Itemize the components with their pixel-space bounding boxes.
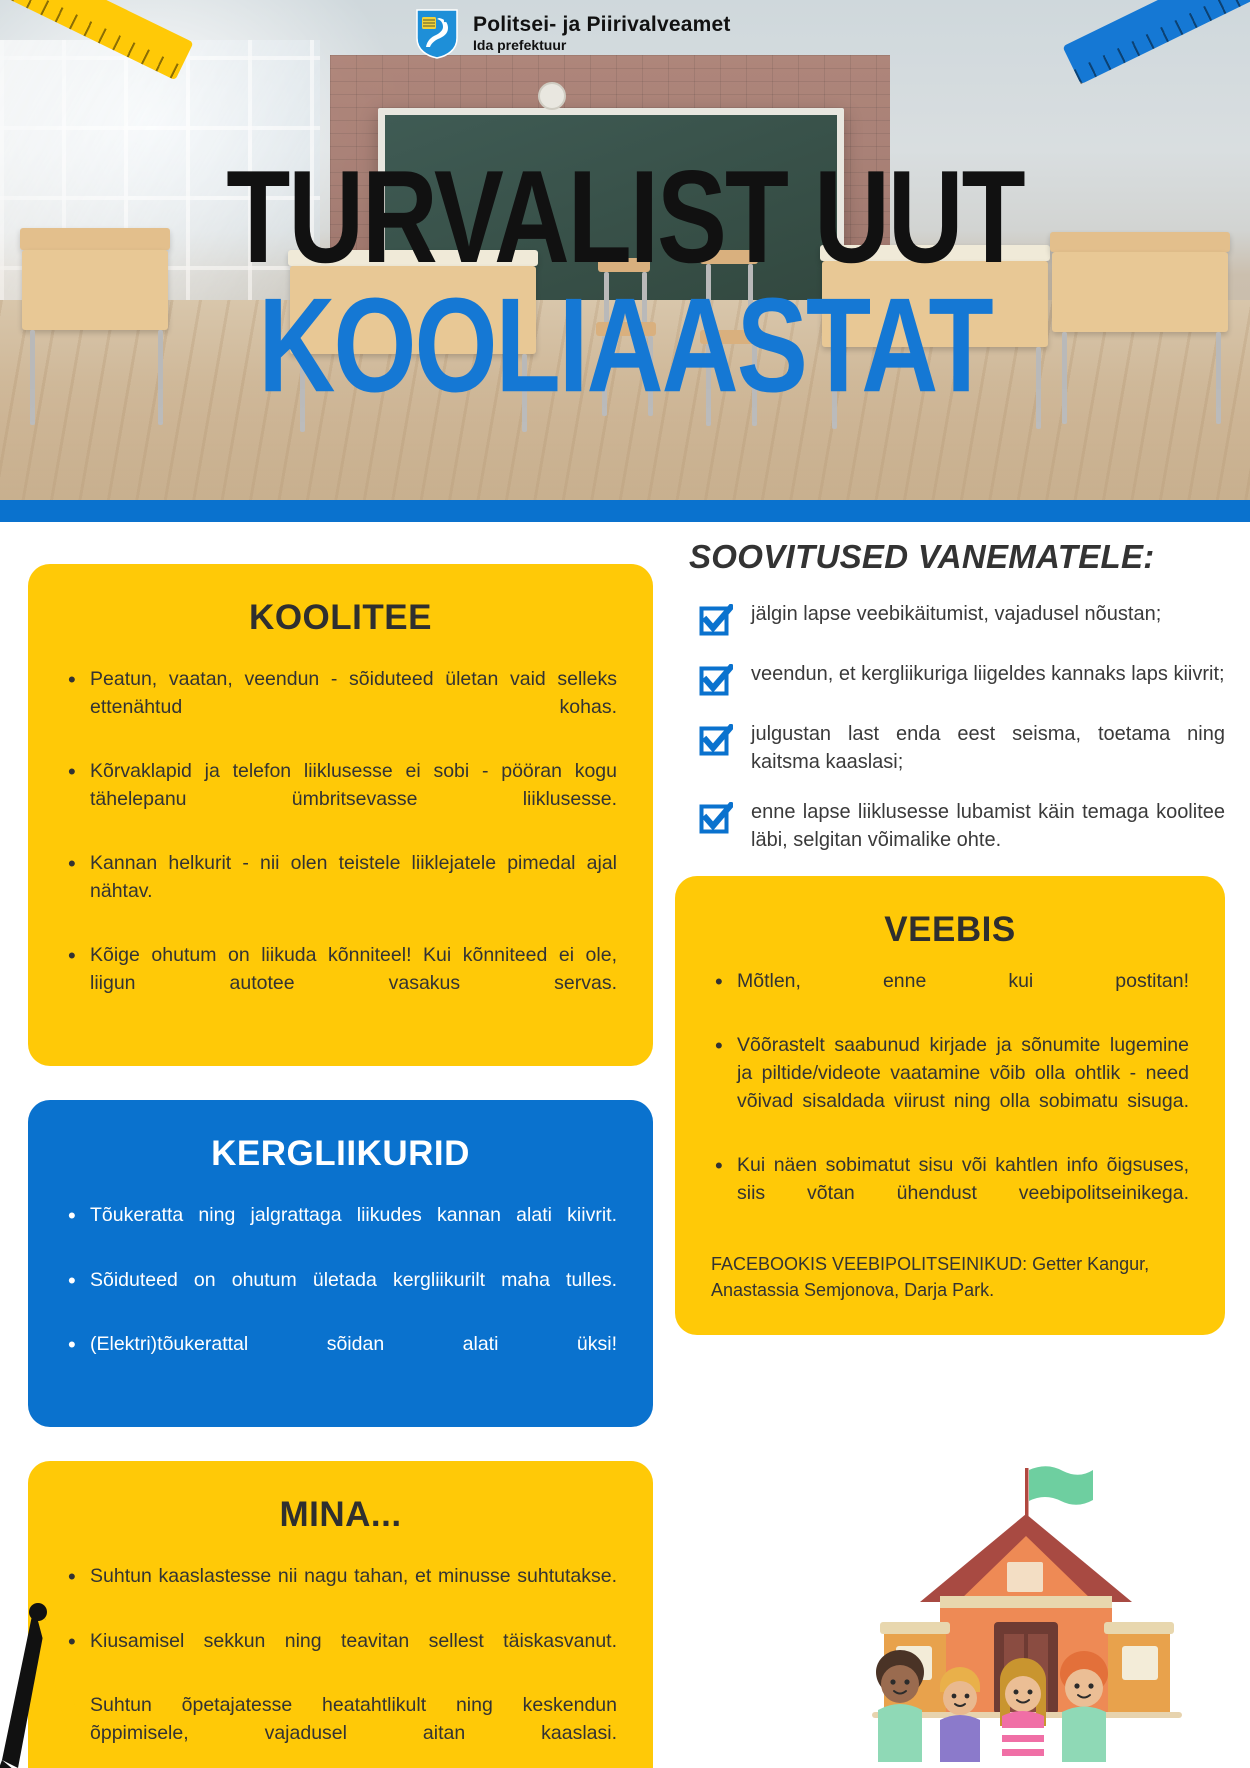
card-mina-list: Suhtun kaaslastesse nii nagu tahan, et m… — [64, 1563, 617, 1768]
card-veebis-list: Mõtlen, enne kui postitan! Võõrastelt sa… — [711, 968, 1189, 1235]
headline-line-2-text: KOOLIAASTAT — [258, 268, 991, 423]
card-mina-title: MINA... — [64, 1495, 617, 1535]
card-koolitee-title: KOOLITEE — [64, 598, 617, 638]
soovitused-heading: SOOVITUSED VANEMATELE: — [689, 538, 1225, 576]
list-item: enne lapse liiklusesse lubamist käin tem… — [699, 798, 1225, 854]
list-item: Sõiduteed on ohutum ületada kergliikuril… — [64, 1267, 617, 1322]
list-item: Peatun, vaatan, veendun - sõiduteed ület… — [64, 666, 617, 749]
card-veebis: VEEBIS Mõtlen, enne kui postitan! Võõras… — [675, 876, 1225, 1335]
card-koolitee-list: Peatun, vaatan, veendun - sõiduteed ület… — [64, 666, 617, 1025]
brand-name: Politsei- ja Piirivalveamet — [473, 13, 731, 36]
list-item: Suhtun kaaslastesse nii nagu tahan, et m… — [64, 1563, 617, 1618]
compass-icon — [0, 1598, 144, 1768]
card-koolitee: KOOLITEE Peatun, vaatan, veendun - sõidu… — [28, 564, 653, 1066]
list-item: Kiusamisel sekkun ning teavitan sellest … — [64, 1628, 617, 1683]
checkbox-checked-icon[interactable] — [699, 664, 733, 698]
facebook-veebipolitseinikud-note: FACEBOOKIS VEEBIPOLITSEINIKUD: Getter Ka… — [711, 1251, 1189, 1303]
headline-line-2: KOOLIAASTAT — [0, 268, 1250, 395]
list-item: Võõrastelt saabunud kirjade ja sõnumite … — [711, 1032, 1189, 1143]
card-kergliikurid-title: KERGLIIKURID — [64, 1134, 617, 1174]
checklist-text: julgustan last enda eest seisma, toetama… — [751, 720, 1225, 776]
list-item: Kui näen sobimatut sisu või kahtlen info… — [711, 1152, 1189, 1235]
card-kergliikurid: KERGLIIKURID Tõukeratta ning jalgrattaga… — [28, 1100, 653, 1427]
clock-icon — [538, 82, 566, 110]
list-item: (Elektri)tõukerattal sõidan alati üksi! — [64, 1331, 617, 1386]
school-building-with-children-icon — [832, 1462, 1222, 1762]
hero-banner: Politsei- ja Piirivalveamet Ida prefektu… — [0, 0, 1250, 500]
list-item: Mõtlen, enne kui postitan! — [711, 968, 1189, 1023]
parents-checklist: jälgin lapse veebikäitumist, vajadusel n… — [699, 600, 1225, 854]
list-item: Kannan helkurit - nii olen teistele liik… — [64, 850, 617, 933]
checklist-text: veendun, et kergliikuriga liigeldes kann… — [751, 660, 1225, 688]
police-shield-icon — [415, 8, 459, 60]
left-column: KOOLITEE Peatun, vaatan, veendun - sõidu… — [28, 564, 653, 1768]
blue-divider-bar — [0, 500, 1250, 522]
checklist-text: enne lapse liiklusesse lubamist käin tem… — [751, 798, 1225, 854]
checkbox-checked-icon[interactable] — [699, 724, 733, 758]
right-column: SOOVITUSED VANEMATELE: jälgin lapse veeb… — [675, 522, 1225, 1369]
list-item: Kõige ohutum on liikuda kõnniteel! Kui k… — [64, 942, 617, 1025]
poster-root: Politsei- ja Piirivalveamet Ida prefektu… — [0, 0, 1250, 1768]
card-kergliikurid-list: Tõukeratta ning jalgrattaga liikudes kan… — [64, 1202, 617, 1386]
checkbox-checked-icon[interactable] — [699, 802, 733, 836]
list-item: Suhtun õpetajatesse heatahtlikult ning k… — [64, 1692, 617, 1768]
list-item: jälgin lapse veebikäitumist, vajadusel n… — [699, 600, 1225, 638]
content-area: KOOLITEE Peatun, vaatan, veendun - sõidu… — [0, 522, 1250, 1768]
brand-text: Politsei- ja Piirivalveamet Ida prefektu… — [473, 13, 731, 56]
checklist-text: jälgin lapse veebikäitumist, vajadusel n… — [751, 600, 1225, 628]
list-item: Tõukeratta ning jalgrattaga liikudes kan… — [64, 1202, 617, 1257]
list-item: julgustan last enda eest seisma, toetama… — [699, 720, 1225, 776]
brand-lockup: Politsei- ja Piirivalveamet Ida prefektu… — [415, 8, 731, 60]
headline-line-1: TURVALIST UUT — [0, 140, 1250, 265]
brand-subtitle: Ida prefektuur — [473, 36, 731, 56]
list-item: Kõrvaklapid ja telefon liiklusesse ei so… — [64, 758, 617, 841]
list-item: veendun, et kergliikuriga liigeldes kann… — [699, 660, 1225, 698]
checkbox-checked-icon[interactable] — [699, 604, 733, 638]
card-veebis-title: VEEBIS — [711, 910, 1189, 950]
